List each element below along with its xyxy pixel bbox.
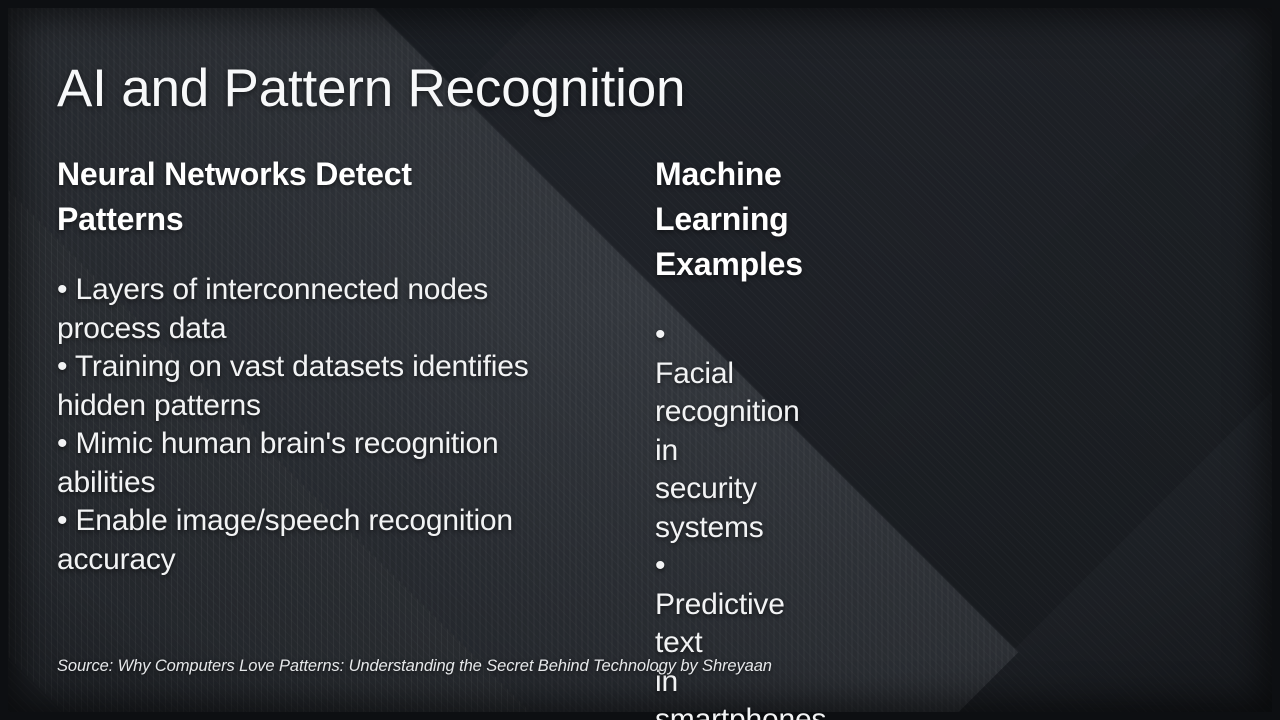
two-column-body: Neural Networks Detect Patterns • Layers…: [0, 152, 1280, 720]
bullet-icon: •: [655, 549, 665, 582]
slide-title: AI and Pattern Recognition: [57, 58, 685, 119]
slide-content: AI and Pattern Recognition Neural Networ…: [0, 0, 1280, 720]
list-item-text: Predictive text in smartphones: [655, 588, 826, 720]
presentation-slide: AI and Pattern Recognition Neural Networ…: [0, 0, 1280, 720]
column-right: Machine Learning Examples • Facial recog…: [0, 152, 695, 720]
source-citation: Source: Why Computers Love Patterns: Und…: [57, 657, 772, 676]
bullet-icon: •: [655, 318, 665, 351]
list-item-text: Facial recognition in security systems: [655, 357, 800, 544]
